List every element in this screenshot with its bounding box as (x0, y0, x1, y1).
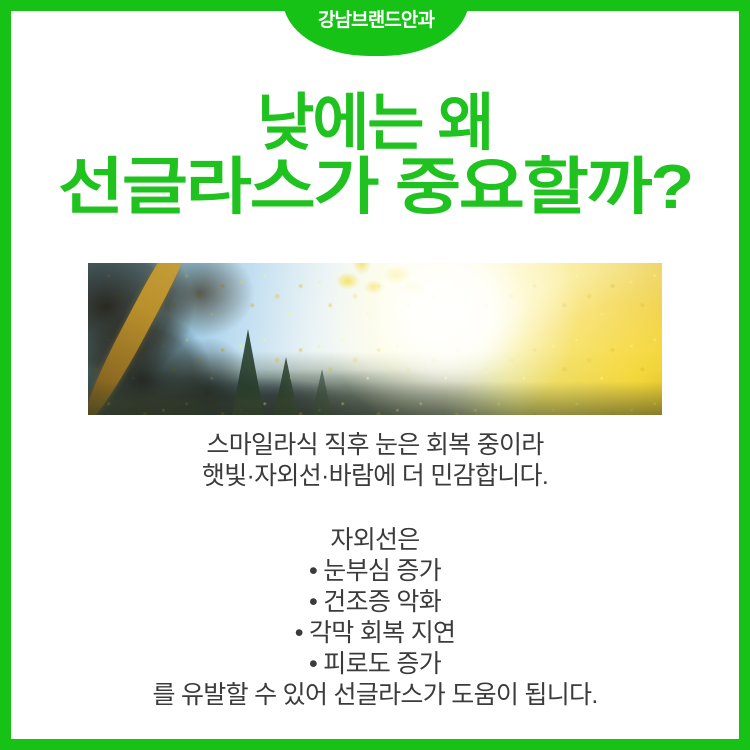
landscape-photo (88, 263, 662, 415)
promo-card: 강남브랜드안과 낮에는 왜 선글라스가 중요할까? 스마일라식 직후 눈은 회복… (0, 0, 750, 750)
frame-border-bottom (0, 739, 750, 750)
headline-line-2: 선글라스가 중요할까? (0, 156, 750, 220)
list-item: • 각막 회복 지연 (0, 618, 750, 649)
frame-border-left (0, 0, 11, 750)
page-title: 낮에는 왜 선글라스가 중요할까? (0, 92, 750, 220)
paragraph-line: 스마일라식 직후 눈은 회복 중이라 (0, 430, 750, 461)
body-copy: 스마일라식 직후 눈은 회복 중이라 햇빛·자외선·바람에 더 민감합니다. 자… (0, 430, 750, 711)
paragraph-line: 햇빛·자외선·바람에 더 민감합니다. (0, 461, 750, 492)
closing-line: 를 유발할 수 있어 선글라스가 도움이 됩니다. (0, 680, 750, 711)
list-intro-label: 자외선은 (0, 525, 750, 556)
list-item: • 피로도 증가 (0, 649, 750, 680)
clinic-badge: 강남브랜드안과 (283, 0, 469, 56)
ground-shadow-layer (88, 263, 662, 415)
copy-spacer (0, 492, 750, 525)
headline-line-1: 낮에는 왜 (0, 92, 750, 156)
frame-border-right (739, 0, 750, 750)
clinic-name-label: 강남브랜드안과 (318, 11, 434, 30)
list-item: • 건조증 악화 (0, 587, 750, 618)
list-item: • 눈부심 증가 (0, 556, 750, 587)
